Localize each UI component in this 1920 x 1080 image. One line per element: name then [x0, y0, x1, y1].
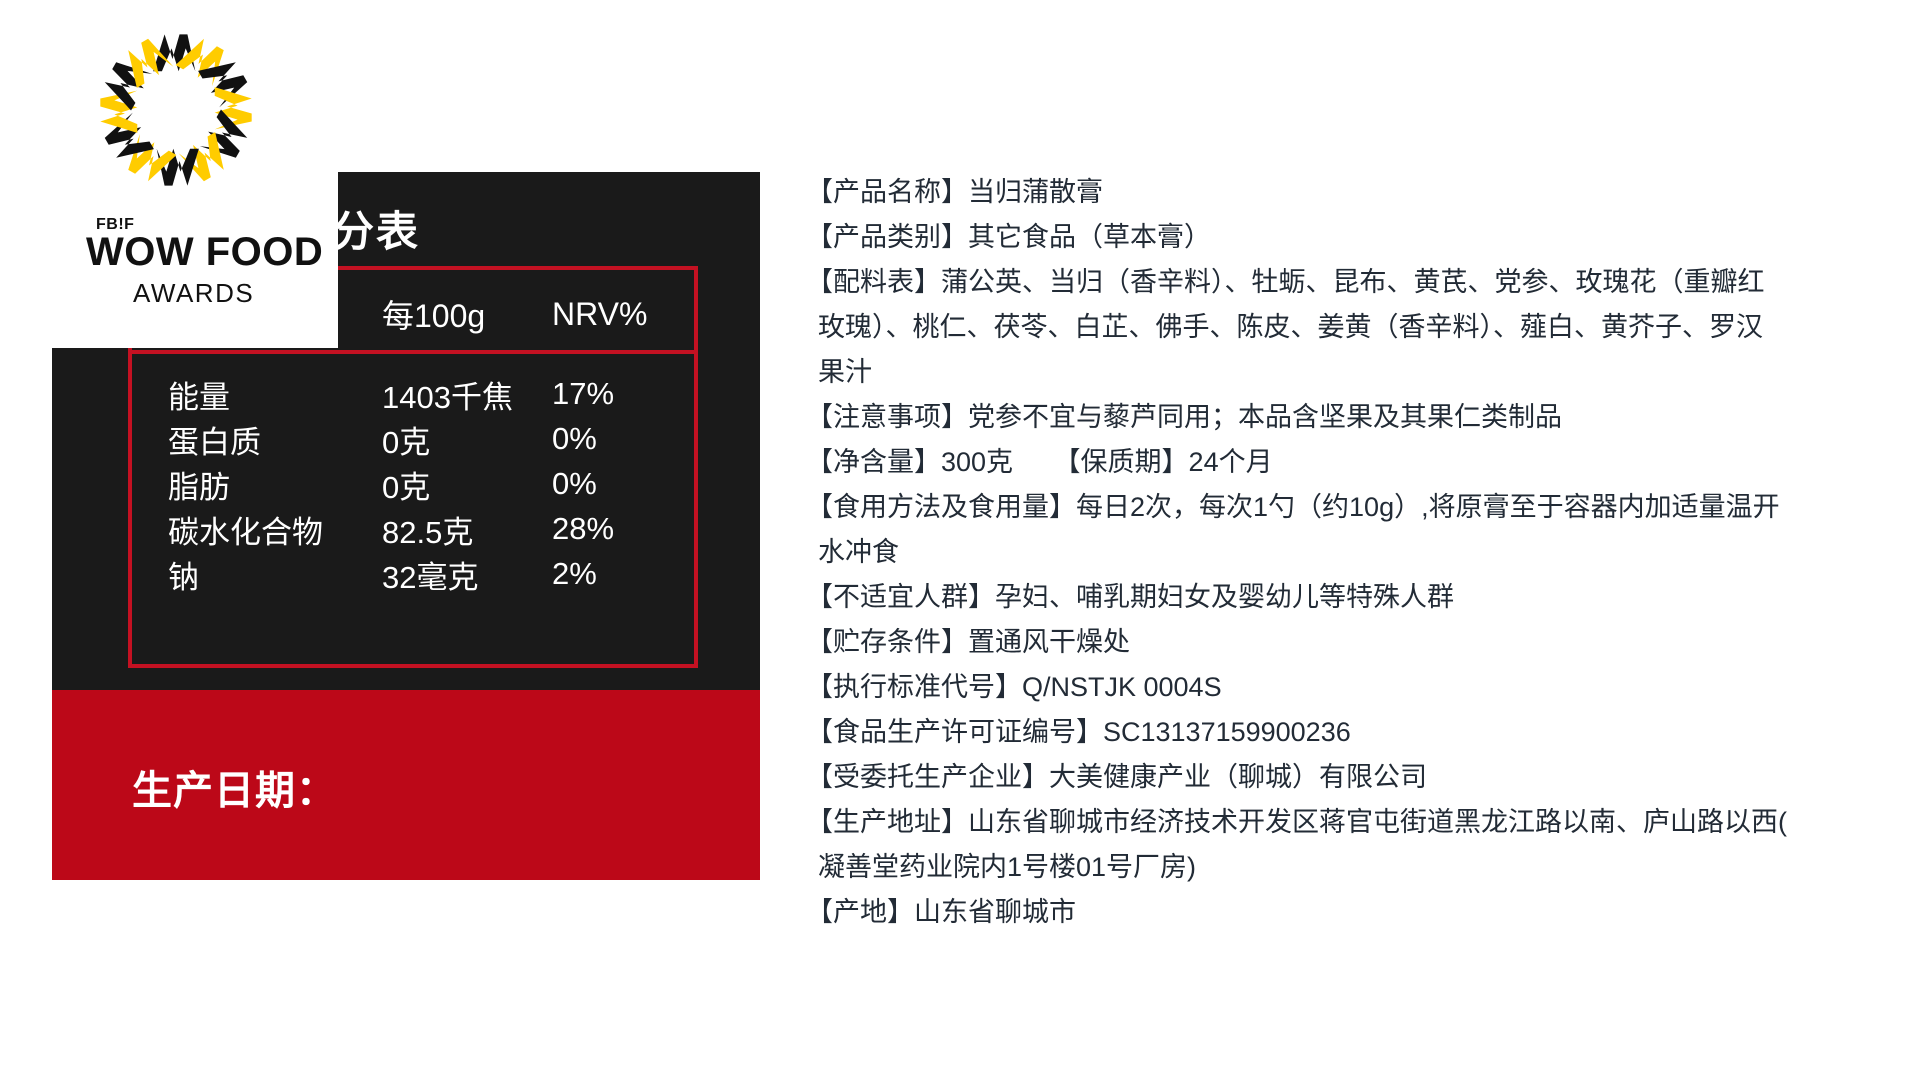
production-date-label: 生产日期： — [132, 758, 337, 816]
row-name: 钠 — [168, 552, 398, 597]
info-line: 【产品类别】其它食品（草本膏） — [806, 215, 1896, 260]
row-nrv: 28% — [552, 511, 692, 547]
info-line: 玫瑰）、桃仁、茯苓、白芷、佛手、陈皮、姜黄（香辛料）、薤白、黄芥子、罗汉 — [806, 305, 1896, 350]
row-per100g: 0克 — [382, 417, 562, 462]
column-header-nrv: NRV% — [552, 296, 692, 333]
row-name: 能量 — [168, 372, 398, 417]
info-line: 【注意事项】党参不宜与藜芦同用；本品含坚果及其果仁类制品 — [806, 395, 1896, 440]
info-line: 【食品生产许可证编号】SC13137159900236 — [806, 710, 1896, 755]
info-line: 【不适宜人群】孕妇、哺乳期妇女及婴幼儿等特殊人群 — [806, 575, 1896, 620]
info-line: 凝善堂药业院内1号楼01号厂房) — [806, 845, 1896, 890]
row-nrv: 0% — [552, 421, 692, 457]
info-line: 【产地】山东省聊城市 — [806, 890, 1896, 935]
row-nrv: 2% — [552, 556, 692, 592]
info-line: 【产品名称】当归蒲散膏 — [806, 170, 1896, 215]
logo-awards-text: AWARDS — [133, 278, 254, 309]
row-nrv: 0% — [552, 466, 692, 502]
product-info-column: 【产品名称】当归蒲散膏【产品类别】其它食品（草本膏）【配料表】蒲公英、当归（香辛… — [806, 170, 1896, 935]
row-nrv: 17% — [552, 376, 692, 412]
nutrition-table-body-box: 能量 1403千焦 17% 蛋白质 0克 0% 脂肪 0克 0% 碳水化合物 8… — [128, 350, 698, 668]
row-name: 蛋白质 — [168, 417, 398, 462]
row-name: 脂肪 — [168, 462, 398, 507]
info-line: 【执行标准代号】Q/NSTJK 0004S — [806, 665, 1896, 710]
row-name: 碳水化合物 — [168, 507, 398, 552]
starburst-icon — [88, 22, 264, 198]
info-line: 【受委托生产企业】大美健康产业（聊城）有限公司 — [806, 755, 1896, 800]
info-line: 水冲食 — [806, 530, 1896, 575]
row-per100g: 0克 — [382, 462, 562, 507]
row-per100g: 32毫克 — [382, 552, 562, 597]
table-row: 钠 32毫克 2% — [132, 546, 694, 602]
row-per100g: 82.5克 — [382, 507, 562, 552]
info-line: 【食用方法及食用量】每日2次，每次1勺（约10g）,将原膏至于容器内加适量温开 — [806, 485, 1896, 530]
row-per100g: 1403千焦 — [382, 372, 562, 417]
info-line: 【配料表】蒲公英、当归（香辛料）、牡蛎、昆布、黄芪、党参、玫瑰花（重瓣红 — [806, 260, 1896, 305]
info-line: 果汁 — [806, 350, 1896, 395]
wow-food-awards-logo: FB!F WOW FOOD AWARDS — [0, 0, 338, 348]
info-line: 【贮存条件】置通风干燥处 — [806, 620, 1896, 665]
column-header-per100g: 每100g — [382, 291, 562, 337]
info-line: 【净含量】300克 【保质期】24个月 — [806, 440, 1896, 485]
production-date-band: 生产日期： — [52, 690, 760, 880]
logo-wowfood-text: WOW FOOD — [86, 230, 323, 275]
info-line: 【生产地址】山东省聊城市经济技术开发区蒋官屯街道黑龙江路以南、庐山路以西( — [806, 800, 1896, 845]
